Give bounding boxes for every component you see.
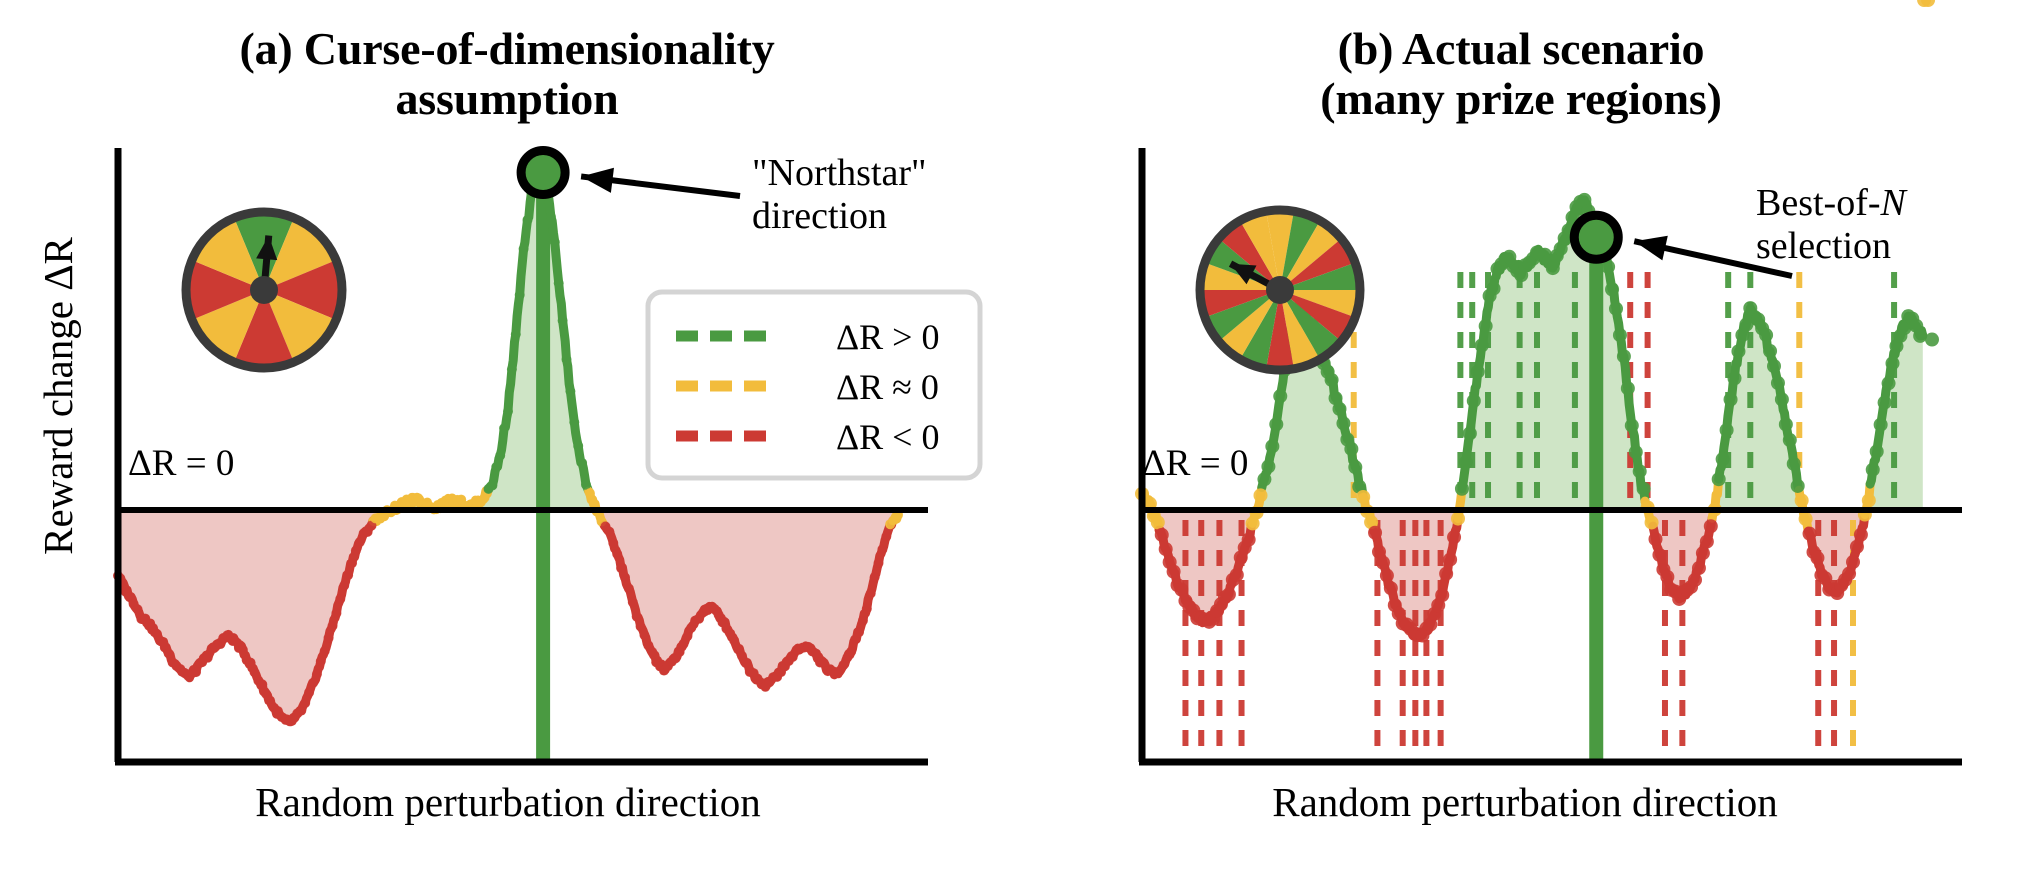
curve-sample-dot bbox=[874, 558, 884, 568]
curve-sample-dot bbox=[324, 633, 334, 643]
curve-sample-dot bbox=[1333, 402, 1347, 416]
panel-a-plot: ΔR > 0ΔR ≈ 0ΔR < 0 bbox=[0, 0, 1014, 882]
curve-sample-dot bbox=[1625, 419, 1639, 433]
curve-sample-dot bbox=[1269, 417, 1283, 431]
curve-sample-dot bbox=[1803, 527, 1817, 541]
curve-sample-dot bbox=[1376, 556, 1390, 570]
northstar-annotation-line1: "Northstar" bbox=[752, 152, 927, 195]
panel-a-title: (a) Curse-of-dimensionality assumption bbox=[0, 24, 1014, 123]
legend-negative-label: ΔR < 0 bbox=[836, 417, 939, 457]
curve-sample-dot bbox=[628, 597, 638, 607]
curve-sample-dot bbox=[1913, 329, 1927, 343]
panel-b-zero-label: ΔR = 0 bbox=[1142, 442, 1248, 485]
curve-sample-dot bbox=[1787, 457, 1801, 471]
curve-sample-dot bbox=[1874, 418, 1888, 432]
curve-sample-dot bbox=[870, 572, 880, 582]
curve-sample-dot bbox=[1637, 482, 1651, 496]
curve-sample-dot bbox=[1850, 540, 1864, 554]
prize-wheel-many-green bbox=[1200, 210, 1360, 370]
wheel-hub bbox=[1266, 276, 1294, 304]
curve-sample-dot bbox=[1159, 542, 1173, 556]
curve-sample-dot bbox=[1230, 568, 1244, 582]
curve-sample-dot bbox=[491, 462, 501, 472]
curve-sample-dot bbox=[238, 645, 248, 655]
curve-sample-dot bbox=[1712, 472, 1726, 486]
curve-sample-dot bbox=[335, 594, 345, 604]
curve-sample-dot bbox=[577, 458, 587, 468]
panel-b: (b) Actual scenario (many prize regions) bbox=[1014, 0, 2028, 882]
curve-sample-dot bbox=[1439, 567, 1453, 581]
curve-sample-dot bbox=[511, 329, 521, 339]
curve-sample-dot bbox=[495, 451, 505, 461]
curve-sample-dot bbox=[304, 687, 314, 697]
curve-sample-dot bbox=[1870, 445, 1884, 459]
curve-sample-dot bbox=[1779, 417, 1793, 431]
curve-sample-dot bbox=[1728, 371, 1742, 385]
curve-sample-dot bbox=[846, 647, 856, 657]
wheel-hub bbox=[250, 276, 278, 304]
curve-sample-dot bbox=[1155, 528, 1169, 542]
curve-sample-dot bbox=[1791, 479, 1805, 493]
curve-sample-dot bbox=[608, 538, 618, 548]
curve-sample-dot bbox=[339, 581, 349, 591]
best-of-n-annotation-line1: Best-of-N bbox=[1756, 182, 1906, 225]
curve-sample-dot bbox=[523, 215, 533, 225]
curve-sample-dot bbox=[741, 658, 751, 668]
curve-sample-dot bbox=[1810, 551, 1824, 565]
curve-sample-dot bbox=[1447, 530, 1461, 544]
curve-sample-dot bbox=[331, 608, 341, 618]
selected-direction-bar bbox=[1589, 237, 1603, 762]
curve-sample-dot bbox=[1783, 433, 1797, 447]
curve-sample-dot bbox=[503, 406, 513, 416]
curve-sample-dot bbox=[480, 493, 490, 503]
curve-sample-dot bbox=[308, 678, 318, 688]
curve-sample-dot bbox=[1380, 569, 1394, 583]
curve-sample-dot bbox=[300, 698, 310, 708]
panel-a-title-line1: (a) Curse-of-dimensionality bbox=[0, 24, 1014, 74]
curve-sample-dot bbox=[1471, 365, 1485, 379]
curve-sample-dot bbox=[507, 364, 517, 374]
curve-sample-dot bbox=[1925, 333, 1939, 347]
curve-sample-dot bbox=[1759, 328, 1773, 342]
curve-sample-dot bbox=[636, 621, 646, 631]
curve-sample-dot bbox=[624, 584, 634, 594]
curve-sample-dot bbox=[881, 532, 891, 542]
curve-sample-dot bbox=[1336, 416, 1350, 430]
curve-sample-dot bbox=[1767, 359, 1781, 373]
curve-sample-dot bbox=[1633, 464, 1647, 478]
panel-b-title-line1: (b) Actual scenario bbox=[1014, 24, 2028, 74]
curve-sample-dot bbox=[1222, 587, 1236, 601]
curve-sample-dot bbox=[1660, 570, 1674, 584]
curve-sample-dot bbox=[858, 616, 868, 626]
annotation-arrow bbox=[581, 168, 740, 196]
curve-sample-dot bbox=[616, 563, 626, 573]
curve-sample-dot bbox=[1866, 463, 1880, 477]
curve-sample-dot bbox=[1605, 282, 1619, 296]
best-of-n-annotation: Best-of-N selection bbox=[1756, 182, 1906, 267]
curve-sample-dot bbox=[1356, 490, 1370, 504]
curve-sample-dot bbox=[1443, 553, 1457, 567]
curve-sample-dot bbox=[1716, 452, 1730, 466]
curve-sample-dot bbox=[1609, 302, 1623, 316]
curve-sample-dot bbox=[133, 604, 143, 614]
panel-a-title-line2: assumption bbox=[0, 74, 1014, 124]
curve-sample-dot bbox=[1720, 423, 1734, 437]
curve-sample-dot bbox=[1435, 588, 1449, 602]
curve-sample-dot bbox=[1775, 392, 1789, 406]
curve-sample-dot bbox=[565, 386, 575, 396]
curve-sample-dot bbox=[1763, 344, 1777, 358]
northstar-annotation: "Northstar" direction bbox=[752, 152, 927, 237]
curve-sample-dot bbox=[1546, 261, 1560, 275]
selected-direction-bar bbox=[536, 172, 550, 762]
curve-sample-dot bbox=[1151, 515, 1165, 529]
curve-sample-dot bbox=[554, 278, 564, 288]
curve-sample-dot bbox=[519, 244, 529, 254]
curve-sample-dot bbox=[1265, 439, 1279, 453]
curve-sample-dot bbox=[1479, 319, 1493, 333]
curve-sample-dot bbox=[573, 441, 583, 451]
curve-sample-dot bbox=[1613, 328, 1627, 342]
curve-sample-dot bbox=[866, 588, 876, 598]
curve-sample-dot bbox=[515, 290, 525, 300]
curve-sample-dot bbox=[550, 237, 560, 247]
curve-sample-dot bbox=[854, 627, 864, 637]
curve-sample-dot bbox=[1862, 493, 1876, 507]
curve-sample-dot bbox=[1487, 282, 1501, 296]
panel-b-plot bbox=[1014, 0, 2028, 882]
legend-positive-label: ΔR > 0 bbox=[836, 317, 939, 357]
northstar-peak-marker[interactable] bbox=[521, 150, 565, 194]
curve-sample-dot bbox=[604, 527, 614, 537]
curve-sample-dot bbox=[877, 544, 887, 554]
panel-b-title: (b) Actual scenario (many prize regions) bbox=[1014, 24, 2028, 123]
curve-sample-dot bbox=[1344, 442, 1358, 456]
curve-sample-dot bbox=[1878, 396, 1892, 410]
curve-sample-dot bbox=[862, 604, 872, 614]
curve-sample-dot bbox=[1882, 376, 1896, 390]
curve-sample-dot bbox=[620, 572, 630, 582]
curve-sample-dot bbox=[164, 648, 174, 658]
curve-sample-dot bbox=[1451, 512, 1465, 526]
curve-sample-dot bbox=[320, 646, 330, 656]
curve-sample-dot bbox=[191, 667, 201, 677]
curve-sample-dot bbox=[1692, 561, 1706, 575]
curve-sample-dot bbox=[811, 649, 821, 659]
best-of-n-marker[interactable] bbox=[1574, 215, 1618, 259]
best-of-n-text: Best-of- bbox=[1756, 182, 1881, 224]
curve-sample-dot bbox=[1167, 565, 1181, 579]
curve-sample-dot bbox=[569, 417, 579, 427]
curve-sample-dot bbox=[499, 423, 509, 433]
panel-a-zero-label: ΔR = 0 bbox=[128, 442, 234, 485]
curve-sample-dot bbox=[1325, 373, 1339, 387]
curve-sample-dot bbox=[1384, 581, 1398, 595]
curve-sample-dot bbox=[640, 630, 650, 640]
curve-sample-dot bbox=[1771, 376, 1785, 390]
curve-sample-dot bbox=[1261, 460, 1275, 474]
curve-sample-dot bbox=[1724, 392, 1738, 406]
curve-sample-dot bbox=[1459, 455, 1473, 469]
curve-sample-dot bbox=[1242, 533, 1256, 547]
curve-sample-dot bbox=[562, 354, 572, 364]
curve-sample-dot bbox=[546, 212, 556, 222]
curve-sample-dot bbox=[632, 612, 642, 622]
curve-sample-dot bbox=[1649, 532, 1663, 546]
best-of-n-italic-n: N bbox=[1881, 182, 1906, 224]
northstar-annotation-line2: direction bbox=[752, 195, 927, 238]
y-axis-label: Reward change ΔR bbox=[34, 176, 82, 616]
curve-sample-dot bbox=[316, 656, 326, 666]
curve-sample-dot bbox=[1629, 445, 1643, 459]
curve-sample-dot bbox=[1846, 555, 1860, 569]
curve-sample-dot bbox=[1799, 512, 1813, 526]
curve-sample-dot bbox=[1700, 535, 1714, 549]
curve-sample-dot bbox=[1795, 493, 1809, 507]
curve-sample-dot bbox=[612, 549, 622, 559]
curve-sample-dot bbox=[312, 669, 322, 679]
curve-sample-dot bbox=[328, 621, 338, 631]
curve-sample-dot bbox=[647, 647, 657, 657]
curve-sample-dot bbox=[1704, 519, 1718, 533]
curve-sample-dot bbox=[1854, 528, 1868, 542]
curve-sample-dot bbox=[1652, 548, 1666, 562]
curve-sample-dot bbox=[1731, 344, 1745, 358]
curve-sample-dot bbox=[1368, 526, 1382, 540]
curve-sample-dot bbox=[1621, 381, 1635, 395]
panel-a: (a) Curse-of-dimensionality assumption R… bbox=[0, 0, 1014, 882]
curve-sample-dot bbox=[246, 658, 256, 668]
curve-sample-dot bbox=[257, 679, 267, 689]
curve-sample-dot bbox=[1257, 472, 1271, 486]
curve-sample-dot bbox=[1273, 389, 1287, 403]
figure-root: (a) Curse-of-dimensionality assumption R… bbox=[0, 0, 2028, 882]
panel-a-x-axis-label: Random perturbation direction bbox=[118, 778, 898, 826]
curve-sample-dot bbox=[1886, 356, 1900, 370]
prize-wheel-few-green bbox=[186, 212, 342, 368]
best-of-n-annotation-line2: selection bbox=[1756, 225, 1906, 268]
curve-sample-dot bbox=[558, 315, 568, 325]
curve-sample-dot bbox=[1688, 573, 1702, 587]
curve-sample-dot bbox=[1254, 488, 1268, 502]
curve-sample-dot bbox=[1475, 338, 1489, 352]
curve-sample-dot bbox=[347, 558, 357, 568]
curve-sample-dot bbox=[1617, 349, 1631, 363]
curve-sample-dot bbox=[487, 480, 497, 490]
curve-sample-dot bbox=[729, 636, 739, 646]
curve-sample-dot bbox=[1645, 515, 1659, 529]
curve-sample-dot bbox=[682, 631, 692, 641]
panel-b-title-line2: (many prize regions) bbox=[1014, 74, 2028, 124]
curve-sample-dot bbox=[355, 537, 365, 547]
curve-sample-dot bbox=[203, 653, 213, 663]
area-fill bbox=[118, 510, 394, 722]
curve-sample-dot bbox=[1463, 426, 1477, 440]
curve-sample-dot bbox=[343, 570, 353, 580]
panel-b-x-axis-label: Random perturbation direction bbox=[1125, 778, 1925, 826]
curve-sample-dot bbox=[1348, 460, 1362, 474]
legend-neutral-label: ΔR ≈ 0 bbox=[836, 367, 939, 407]
curve-sample-dot bbox=[585, 488, 595, 498]
curve-sample-dot bbox=[1467, 394, 1481, 408]
curve-sample-dot bbox=[351, 546, 361, 556]
arrow-head bbox=[581, 168, 614, 193]
curve-sample-dot bbox=[1455, 482, 1469, 496]
legend: ΔR > 0ΔR ≈ 0ΔR < 0 bbox=[648, 292, 980, 478]
